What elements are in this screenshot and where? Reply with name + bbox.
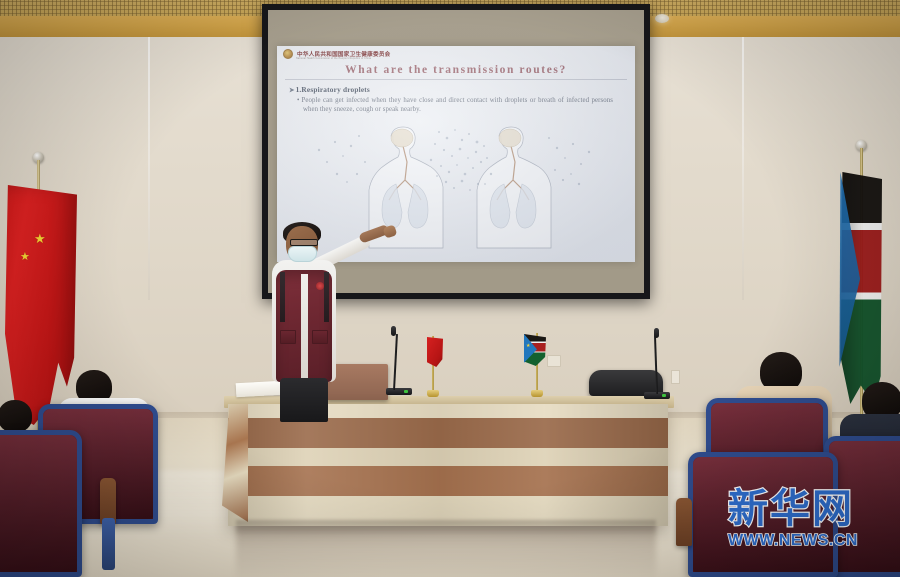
slide-bullet-level2: •People can get infected when they have … <box>303 97 613 114</box>
desk-flag-base <box>427 390 439 397</box>
microphone-led <box>662 394 666 397</box>
presenter-trousers <box>280 378 328 422</box>
vest-pocket <box>280 330 296 344</box>
wall-panel-seam <box>148 37 150 337</box>
seat-armrest-post <box>102 518 115 570</box>
presenter-face-mask <box>288 246 317 262</box>
vest-badge-icon <box>316 282 324 290</box>
slide-bullet-level2-text: People can get infected when they have c… <box>301 97 613 113</box>
desk-flag-base <box>531 390 543 397</box>
slide-bullet-level1: ➤1.Respiratory droplets <box>289 85 635 94</box>
seat-cushion <box>829 441 900 572</box>
auditorium-seat <box>688 452 838 577</box>
auditorium-seat <box>0 430 82 577</box>
photo-scene: 中华人民共和国国家卫生健康委员会 National Health Commiss… <box>0 0 900 577</box>
under-table-shadow <box>236 520 656 534</box>
slide-org-english: National Health Commission of the People… <box>296 57 371 60</box>
tablecloth <box>228 404 668 526</box>
bullet-arrow-icon: ➤ <box>289 87 295 94</box>
vest-shoulder-strap <box>280 272 285 322</box>
ceiling-light-icon <box>655 14 669 23</box>
seat-cushion <box>693 457 833 572</box>
vest-pocket <box>312 330 328 344</box>
microphone-head <box>391 326 396 336</box>
slide-title: What are the transmission routes? <box>277 64 635 76</box>
national-emblem-icon <box>283 49 293 59</box>
presenter <box>250 218 390 408</box>
flag-star-icon: ★ <box>34 232 46 245</box>
slide-header: 中华人民共和国国家卫生健康委员会 National Health Commiss… <box>277 46 635 62</box>
bullet-dot-icon: • <box>297 97 299 104</box>
audience-head <box>0 400 32 432</box>
desk-flag-star-icon: ★ <box>526 344 530 349</box>
wall-socket <box>547 355 561 367</box>
microphone-led <box>404 390 408 393</box>
microphone-head <box>654 328 659 338</box>
slide-bullet-level1-text: 1.Respiratory droplets <box>296 85 370 94</box>
seat-armrest <box>676 498 692 546</box>
wall-panel-seam <box>742 37 744 337</box>
wall-socket <box>671 370 680 384</box>
presenter-shirt-front <box>301 274 308 378</box>
seat-cushion <box>0 435 77 572</box>
title-divider <box>285 79 627 80</box>
vest-shoulder-strap <box>324 272 329 322</box>
presenter-glasses-icon <box>290 239 318 246</box>
flag-star-icon: ★ <box>20 252 30 263</box>
